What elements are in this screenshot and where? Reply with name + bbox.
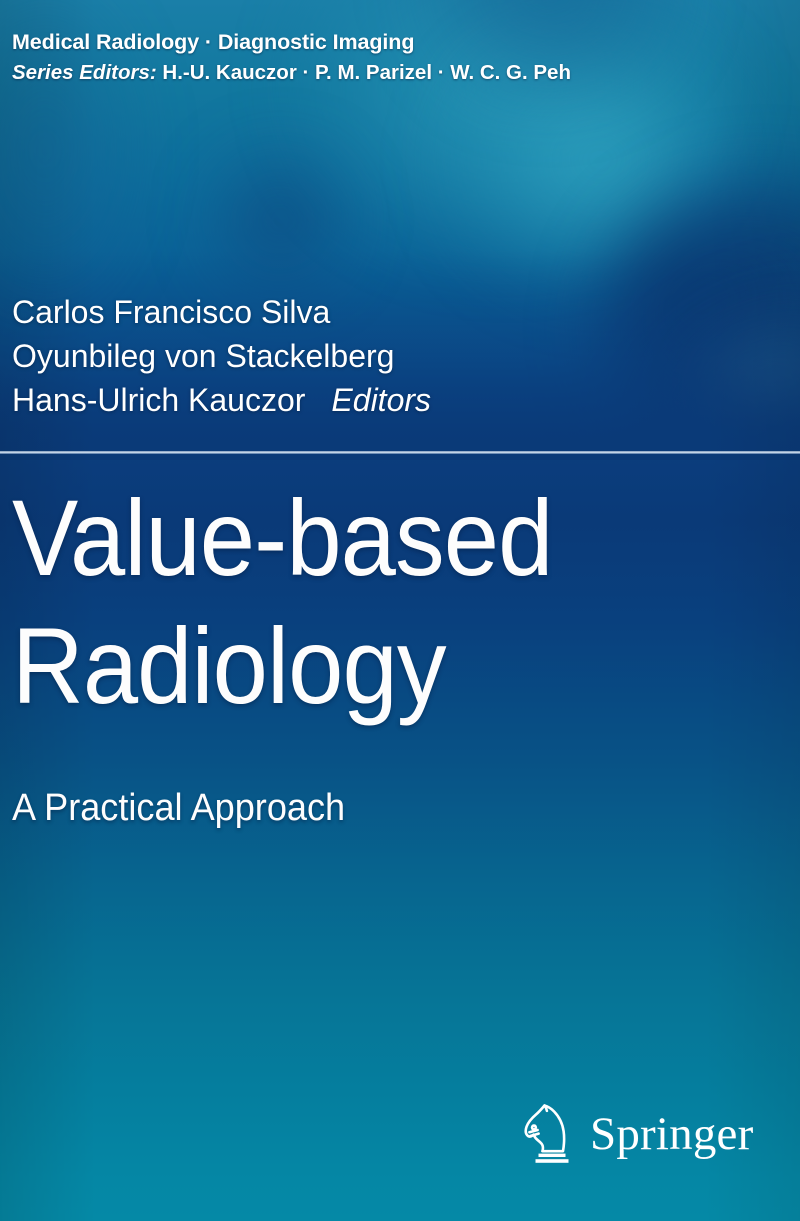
series-header: Medical Radiology · Diagnostic Imaging S…: [12, 28, 772, 87]
editor-name: Oyunbileg von Stackelberg: [12, 334, 782, 378]
series-editors-line: Series Editors: H.-U. Kauczor · P. M. Pa…: [12, 59, 772, 87]
book-title-line-1: Value-based: [12, 474, 730, 602]
series-editors-label: Series Editors:: [12, 61, 157, 84]
editor-name: Hans-Ulrich KauczorEditors: [12, 378, 782, 422]
book-cover: Medical Radiology · Diagnostic Imaging S…: [0, 0, 800, 1221]
title-divider-rule: [0, 451, 800, 454]
series-title: Medical Radiology · Diagnostic Imaging: [12, 28, 772, 56]
editor-name-text: Carlos Francisco Silva: [12, 294, 330, 330]
editors-list: Carlos Francisco Silva Oyunbileg von Sta…: [12, 290, 782, 422]
book-title-line-2: Radiology: [12, 602, 730, 730]
publisher-logo: Springer: [521, 1098, 721, 1170]
editors-role-label: Editors: [331, 382, 431, 418]
editor-name: Carlos Francisco Silva: [12, 290, 782, 334]
springer-knight-icon: [521, 1100, 579, 1168]
editor-name-text: Hans-Ulrich Kauczor: [12, 382, 305, 418]
editor-name-text: Oyunbileg von Stackelberg: [12, 338, 394, 374]
book-title: Value-based Radiology: [12, 474, 792, 730]
book-subtitle: A Practical Approach: [12, 784, 345, 832]
series-editors-names: H.-U. Kauczor · P. M. Parizel · W. C. G.…: [162, 61, 571, 84]
publisher-name: Springer: [590, 1108, 753, 1160]
